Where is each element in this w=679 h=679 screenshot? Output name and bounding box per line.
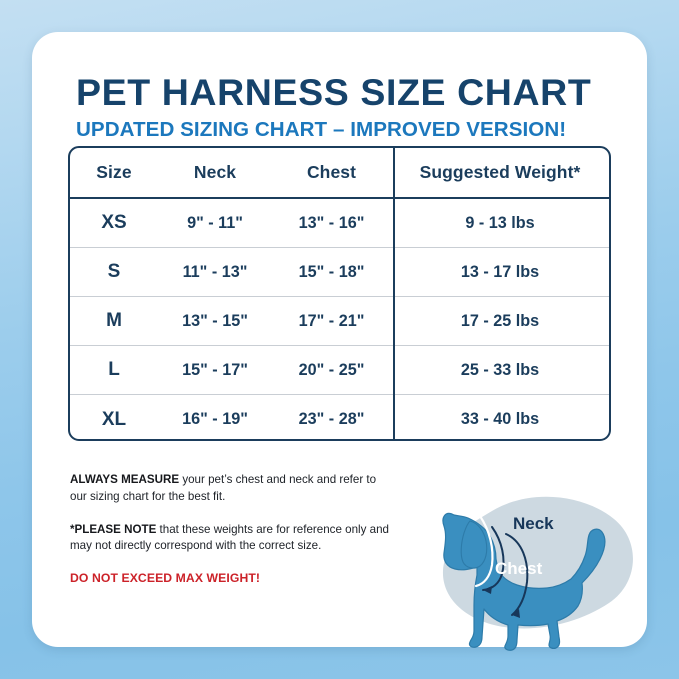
chest-label: Chest <box>495 559 543 578</box>
cell-size: L <box>70 359 158 381</box>
cell-neck: 9" - 11" <box>158 214 272 233</box>
cell-neck: 16" - 19" <box>158 410 272 429</box>
cell-size: XS <box>70 212 158 234</box>
cell-neck: 11" - 13" <box>158 263 272 282</box>
dog-illustration: Neck Chest <box>430 479 646 654</box>
table-row: S 11" - 13" 15" - 18" 13 - 17 lbs <box>70 248 609 297</box>
note-please-note-bold: *PLEASE NOTE <box>70 523 156 536</box>
page-subtitle: UPDATED SIZING CHART – IMPROVED VERSION! <box>76 120 616 141</box>
cell-weight: 25 - 33 lbs <box>391 361 609 380</box>
cell-neck: 15" - 17" <box>158 361 272 380</box>
table-row: M 13" - 15" 17" - 21" 17 - 25 lbs <box>70 297 609 346</box>
cell-weight: 13 - 17 lbs <box>391 263 609 282</box>
cell-chest: 13" - 16" <box>272 214 391 233</box>
cell-weight: 33 - 40 lbs <box>391 410 609 429</box>
weight-column-divider <box>393 148 395 439</box>
table-row: XS 9" - 11" 13" - 16" 9 - 13 lbs <box>70 199 609 248</box>
column-header-size: Size <box>70 162 158 183</box>
table-row: L 15" - 17" 20" - 25" 25 - 33 lbs <box>70 346 609 395</box>
column-header-chest: Chest <box>272 162 391 183</box>
notes-block: ALWAYS MEASURE your pet’s chest and neck… <box>70 472 395 585</box>
cell-neck: 13" - 15" <box>158 312 272 331</box>
cell-size: XL <box>70 409 158 431</box>
note-always-measure: ALWAYS MEASURE your pet’s chest and neck… <box>70 472 395 506</box>
column-header-neck: Neck <box>158 162 272 183</box>
size-table: Size Neck Chest Suggested Weight* XS 9" … <box>68 146 611 441</box>
max-weight-warning: DO NOT EXCEED MAX WEIGHT! <box>70 571 395 585</box>
neck-label: Neck <box>513 514 554 533</box>
cell-chest: 15" - 18" <box>272 263 391 282</box>
cell-weight: 17 - 25 lbs <box>391 312 609 331</box>
table-header-row: Size Neck Chest Suggested Weight* <box>70 148 609 199</box>
size-chart-page: PET HARNESS SIZE CHART UPDATED SIZING CH… <box>0 0 679 679</box>
column-header-weight: Suggested Weight* <box>391 162 609 183</box>
header: PET HARNESS SIZE CHART UPDATED SIZING CH… <box>76 74 616 140</box>
dog-diagram-svg: Neck Chest <box>430 479 646 654</box>
cell-chest: 20" - 25" <box>272 361 391 380</box>
cell-weight: 9 - 13 lbs <box>391 214 609 233</box>
cell-chest: 17" - 21" <box>272 312 391 331</box>
cell-chest: 23" - 28" <box>272 410 391 429</box>
cell-size: M <box>70 310 158 332</box>
chart-card: PET HARNESS SIZE CHART UPDATED SIZING CH… <box>32 32 647 647</box>
cell-size: S <box>70 261 158 283</box>
table-row: XL 16" - 19" 23" - 28" 33 - 40 lbs <box>70 395 609 441</box>
note-please-note: *PLEASE NOTE that these weights are for … <box>70 522 395 556</box>
note-always-measure-bold: ALWAYS MEASURE <box>70 473 179 486</box>
page-title: PET HARNESS SIZE CHART <box>76 74 616 112</box>
